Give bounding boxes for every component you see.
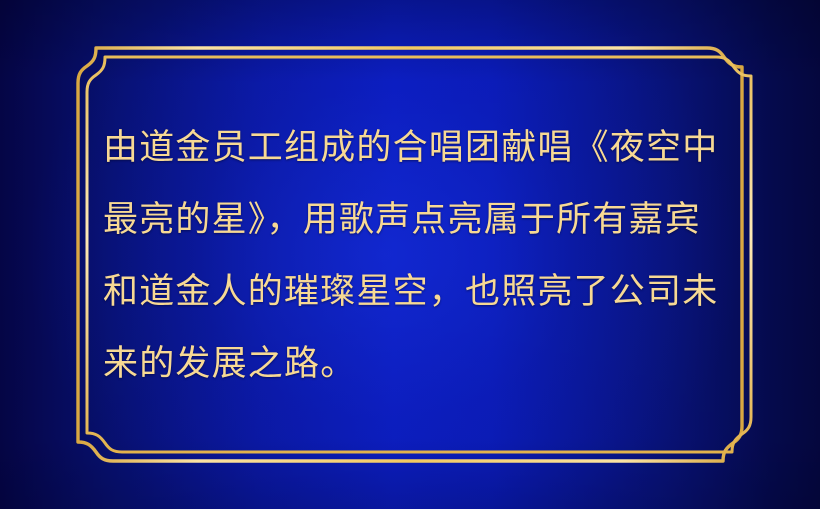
body-text-line-3: 和道金人的璀璨星空，也照亮了公司未 bbox=[103, 256, 737, 328]
body-text-line-2: 最亮的星》，用歌声点亮属于所有嘉宾 bbox=[103, 184, 737, 256]
slide-canvas: 由道金员工组成的合唱团献唱《夜空中 最亮的星》，用歌声点亮属于所有嘉宾 和道金人… bbox=[0, 0, 820, 509]
body-text-line-1: 由道金员工组成的合唱团献唱《夜空中 bbox=[103, 112, 737, 184]
body-text-block: 由道金员工组成的合唱团献唱《夜空中 最亮的星》，用歌声点亮属于所有嘉宾 和道金人… bbox=[103, 112, 737, 400]
body-text-line-4: 来的发展之路。 bbox=[103, 328, 737, 400]
